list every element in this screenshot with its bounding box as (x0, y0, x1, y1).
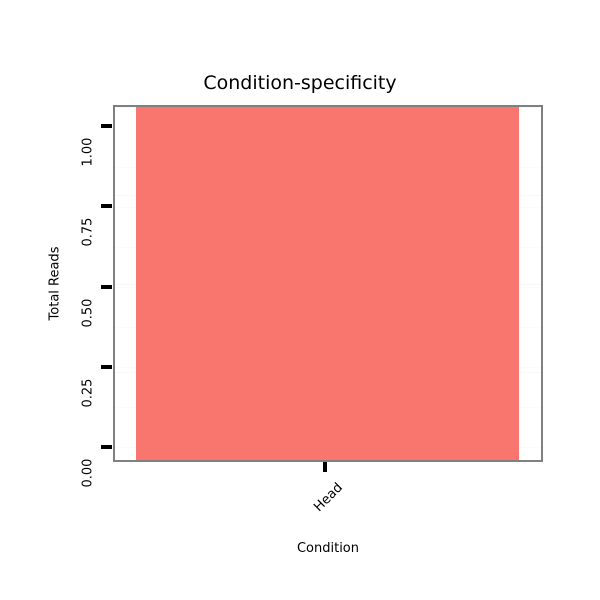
plot-panel (113, 105, 543, 462)
y-tick-label-1: 0.25 (82, 368, 95, 408)
bar-head (136, 107, 519, 460)
plot-panel-inner (115, 107, 541, 460)
y-tick-mark-0 (101, 445, 112, 449)
y-tick-mark-1 (101, 365, 112, 369)
y-tick-label-0: 0.00 (82, 448, 95, 488)
y-tick-mark-4 (101, 124, 112, 128)
y-tick-label-3: 0.75 (82, 207, 95, 247)
x-axis-title: Condition (113, 541, 543, 556)
y-axis-title: Total Reads (49, 241, 62, 327)
chart-canvas: Condition-specificity Total Reads 0.00 0… (0, 0, 600, 600)
y-tick-label-2: 0.50 (82, 288, 95, 328)
y-tick-label-4: 1.00 (82, 127, 95, 167)
x-tick-label-head: Head (301, 481, 346, 526)
y-tick-mark-3 (101, 204, 112, 208)
chart-title: Condition-specificity (0, 72, 600, 94)
y-tick-mark-2 (101, 285, 112, 289)
x-tick-mark-0 (323, 462, 327, 472)
